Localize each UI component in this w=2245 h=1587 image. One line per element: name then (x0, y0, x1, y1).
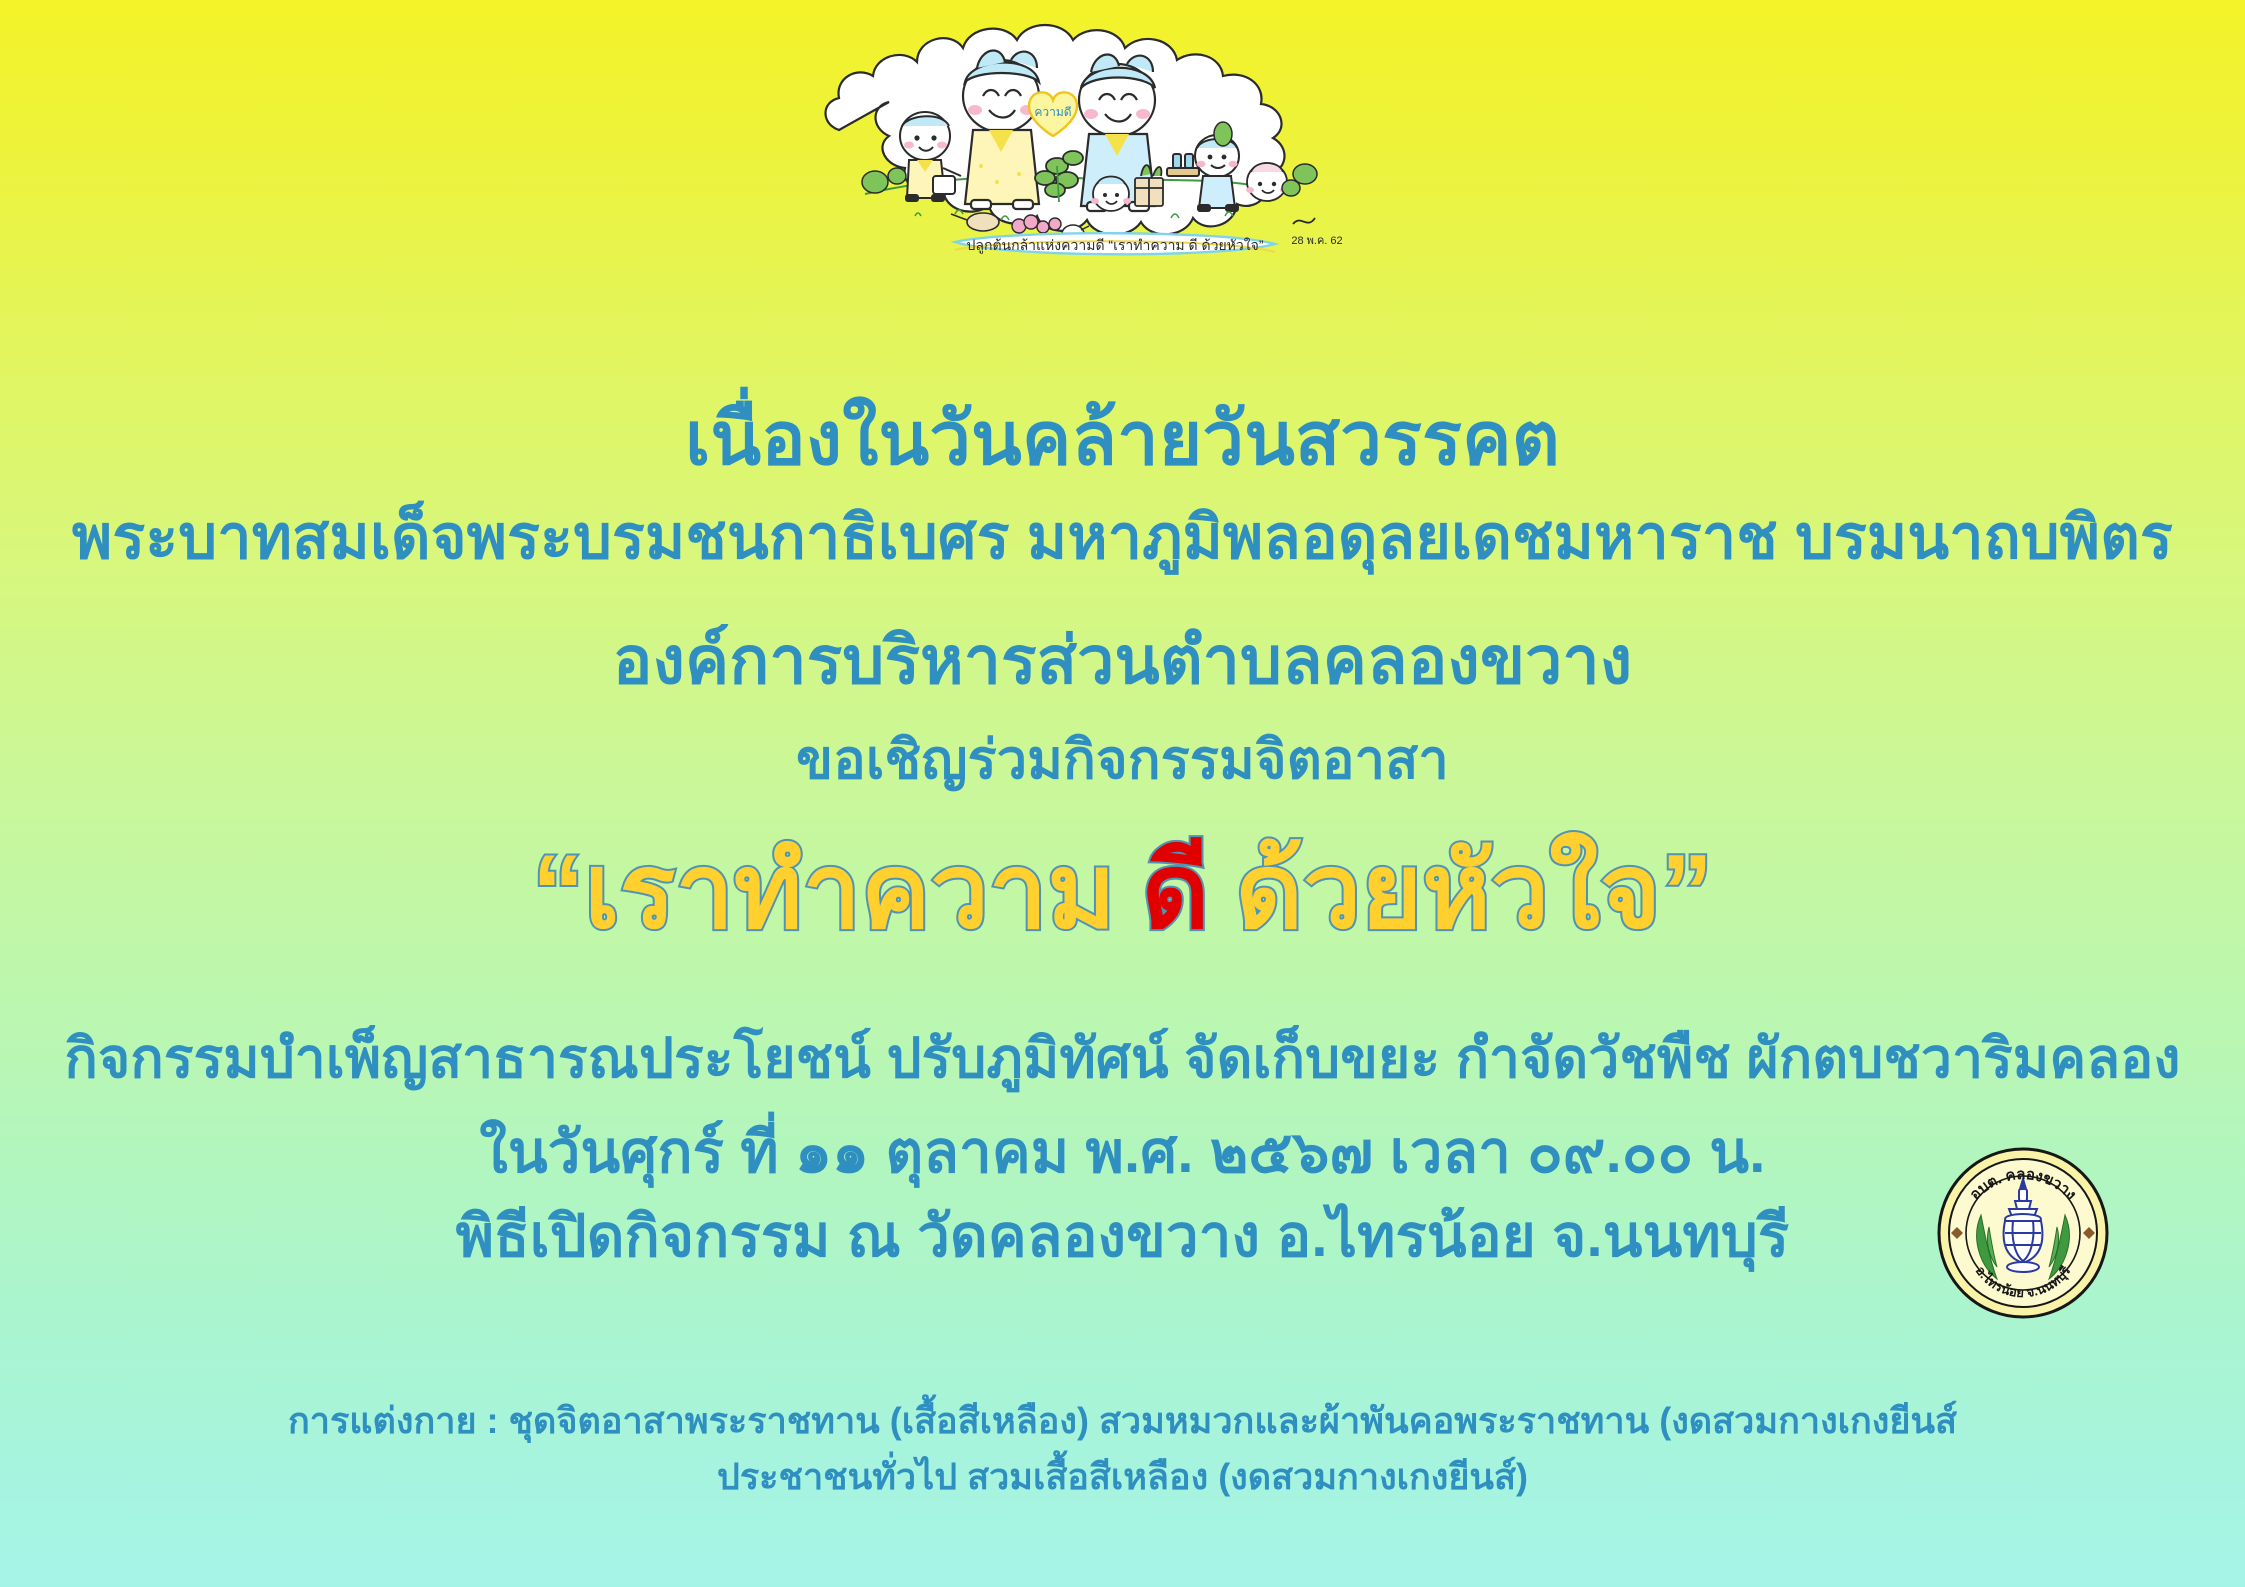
illustration-watering-can (951, 213, 999, 231)
poster-root: ความดี (0, 0, 2245, 1587)
slogan-close-quote: ” (1661, 834, 1713, 950)
organization-heading: องค์การบริหารส่วนตำบลคลองขวาง (0, 620, 2245, 700)
illustration-figure-main-left (963, 51, 1039, 209)
dress-code-line-two: ประชาชนทั่วไป สวมเสื้อสีเหลือง (งดสวมกาง… (0, 1449, 2245, 1505)
invitation-heading: ขอเชิญร่วมกิจกรรมจิตอาสา (0, 727, 2245, 793)
heart-label: ความดี (1034, 105, 1071, 119)
slogan-part-two: ด้วยหัวใจ (1235, 834, 1661, 950)
occasion-heading: เนื่องในวันคล้ายวันสวรรคต (0, 396, 2245, 482)
slogan-part-one: เราทำความ (584, 834, 1116, 950)
illustration-caption: ปลูกต้นกล้าแห่งความดี “เราทำความ ดี ด้วย… (967, 237, 1264, 254)
campaign-slogan: “เราทำความดีด้วยหัวใจ” (0, 832, 2245, 952)
dress-code-line-one: การแต่งกาย : ชุดจิตอาสาพระราชทาน (เสื้อส… (0, 1393, 2245, 1449)
illustration-mascot-right (1246, 163, 1288, 201)
slogan-open-quote: “ (532, 834, 584, 950)
activity-description: กิจกรรมบำเพ็ญสาธารณประโยชน์ ปรับภูมิทัศน… (0, 1024, 2245, 1092)
slogan-highlight: ดี (1142, 834, 1210, 950)
volunteer-illustration: ความดี (805, 18, 1465, 276)
illustration-signature: 28 พ.ค. 62 (1291, 218, 1342, 247)
illustration-signature-date: 28 พ.ค. 62 (1291, 235, 1342, 247)
event-venue: พิธีเปิดกิจกรรม ณ วัดคลองขวาง อ.ไทรน้อย … (0, 1201, 2245, 1273)
illustration-caption-band: ปลูกต้นกล้าแห่งความดี “เราทำความ ดี ด้วย… (955, 233, 1275, 254)
event-datetime: ในวันศุกร์ ที่ ๑๑ ตุลาคม พ.ศ. ๒๕๖๗ เวลา … (0, 1117, 2245, 1189)
dress-code-footer: การแต่งกาย : ชุดจิตอาสาพระราชทาน (เสื้อส… (0, 1393, 2245, 1505)
royal-title-heading: พระบาทสมเด็จพระบรมชนกาธิเบศร มหาภูมิพลอด… (0, 500, 2245, 574)
official-seal: อบต. คลองขวาง อ.ไทรน้อย จ.นนทบุรี (1935, 1145, 2111, 1321)
